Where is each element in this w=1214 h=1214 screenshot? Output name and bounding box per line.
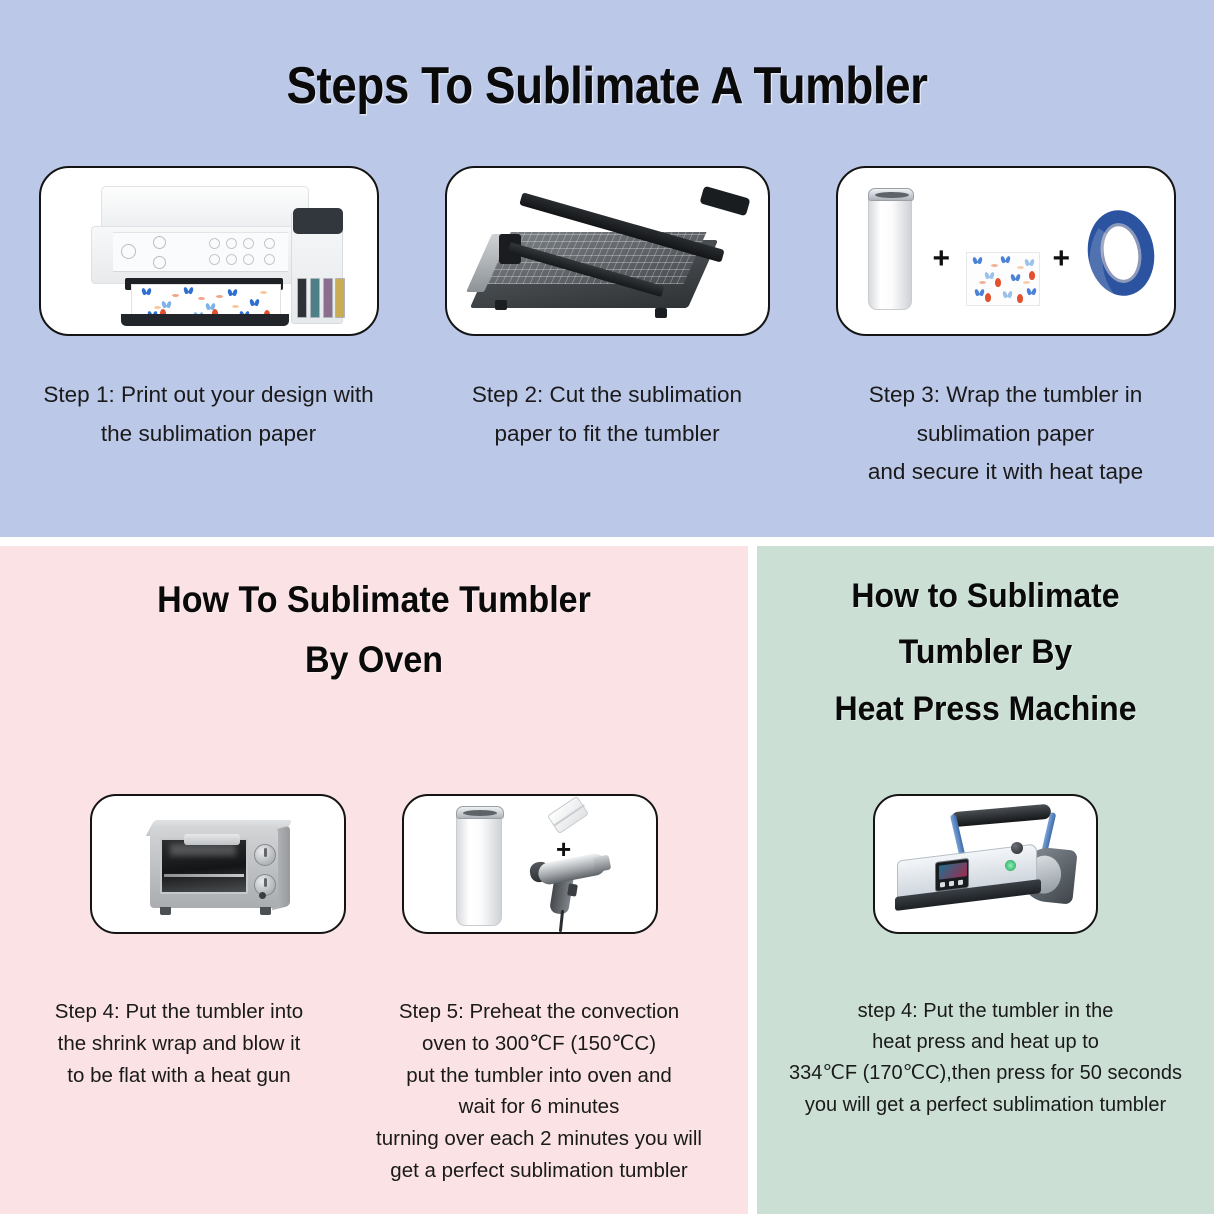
- step-3-column: +: [836, 166, 1176, 492]
- printer-icon: [81, 186, 343, 322]
- step-1-column: Step 1: Print out your design with the s…: [39, 166, 379, 492]
- caption-line: to be flat with a heat gun: [29, 1060, 329, 1092]
- step-5-oven-caption: Step 5: Preheat the convection oven to 3…: [359, 996, 719, 1187]
- step-4-oven-caption: Step 4: Put the tumbler into the shrink …: [29, 996, 329, 1187]
- oven-cards-row: +: [0, 794, 748, 934]
- heading-line: By Oven: [30, 630, 718, 690]
- heat-press-method-heading: How to Sublimate Tumbler By Heat Press M…: [771, 546, 1201, 737]
- step-3-caption: Step 3: Wrap the tumbler in sublimation …: [821, 376, 1191, 492]
- caption-line: and secure it with heat tape: [821, 453, 1191, 492]
- heading-line: Heat Press Machine: [771, 681, 1201, 737]
- oven-method-panel: How To Sublimate Tumbler By Oven: [0, 546, 748, 1214]
- convection-oven-icon: [142, 812, 300, 922]
- heading-line: How to Sublimate: [771, 568, 1201, 624]
- step-2-caption: Step 2: Cut the sublimation paper to fit…: [422, 376, 792, 453]
- heat-press-method-panel: How to Sublimate Tumbler By Heat Press M…: [757, 546, 1214, 1214]
- infographic-page: Steps To Sublimate A Tumbler: [0, 0, 1214, 1214]
- caption-line: 334℃F (170℃C),then press for 50 seconds: [763, 1058, 1208, 1089]
- plus-icon-1: +: [933, 244, 951, 274]
- page-title: Steps To Sublimate A Tumbler: [73, 0, 1141, 116]
- heading-line: Tumbler By: [771, 624, 1201, 680]
- shrink-wrap-sleeve-icon: [547, 796, 589, 834]
- caption-line: the sublimation paper: [24, 415, 394, 454]
- plus-icon-2: +: [1053, 244, 1071, 274]
- heat-tape-roll-icon: [1081, 205, 1160, 300]
- caption-line: the shrink wrap and blow it: [29, 1028, 329, 1060]
- paper-trimmer-icon: [469, 182, 751, 324]
- tumbler-shrinkwrap-heatgun-icon: +: [404, 796, 658, 934]
- heat-press-image-card: [873, 794, 1098, 934]
- caption-line: turning over each 2 minutes you will: [359, 1123, 719, 1155]
- caption-line: Step 5: Preheat the convection: [359, 996, 719, 1028]
- step-1-caption: Step 1: Print out your design with the s…: [24, 376, 394, 453]
- top-steps-panel: Steps To Sublimate A Tumbler: [0, 0, 1214, 537]
- caption-line: heat press and heat up to: [763, 1027, 1208, 1058]
- blank-tumbler-icon: [868, 192, 912, 310]
- heat-press-machine-icon: [893, 808, 1085, 926]
- tumbler-paper-tape-icon: +: [838, 168, 1176, 336]
- caption-line: put the tumbler into oven and: [359, 1060, 719, 1092]
- step-2-image-card: [445, 166, 770, 336]
- caption-line: wait for 6 minutes: [359, 1091, 719, 1123]
- oven-image-card: [90, 794, 346, 934]
- oven-captions-row: Step 4: Put the tumbler into the shrink …: [0, 996, 748, 1187]
- caption-line: Step 1: Print out your design with: [24, 376, 394, 415]
- step-2-column: Step 2: Cut the sublimation paper to fit…: [445, 166, 770, 492]
- heading-line: How To Sublimate Tumbler: [30, 570, 718, 630]
- blank-tumbler-icon: [456, 810, 502, 926]
- caption-line: you will get a perfect sublimation tumbl…: [763, 1090, 1208, 1121]
- step-4-press-caption: step 4: Put the tumbler in the heat pres…: [757, 996, 1214, 1121]
- caption-line: Step 2: Cut the sublimation: [422, 376, 792, 415]
- heat-press-card-wrap: [757, 794, 1214, 934]
- caption-line: get a perfect sublimation tumbler: [359, 1155, 719, 1187]
- caption-line: step 4: Put the tumbler in the: [763, 996, 1208, 1027]
- oven-method-heading: How To Sublimate Tumbler By Oven: [30, 546, 718, 690]
- step-3-image-card: +: [836, 166, 1176, 336]
- steps-row: Step 1: Print out your design with the s…: [0, 166, 1214, 492]
- caption-line: Step 3: Wrap the tumbler in: [821, 376, 1191, 415]
- caption-line: Step 4: Put the tumbler into: [29, 996, 329, 1028]
- caption-line: oven to 300℃F (150℃C): [359, 1028, 719, 1060]
- heat-gun-icon: [530, 854, 608, 916]
- sublimation-paper-swatch: [966, 252, 1040, 306]
- caption-line: paper to fit the tumbler: [422, 415, 792, 454]
- step-1-image-card: [39, 166, 379, 336]
- caption-line: sublimation paper: [821, 415, 1191, 454]
- heatgun-image-card: +: [402, 794, 658, 934]
